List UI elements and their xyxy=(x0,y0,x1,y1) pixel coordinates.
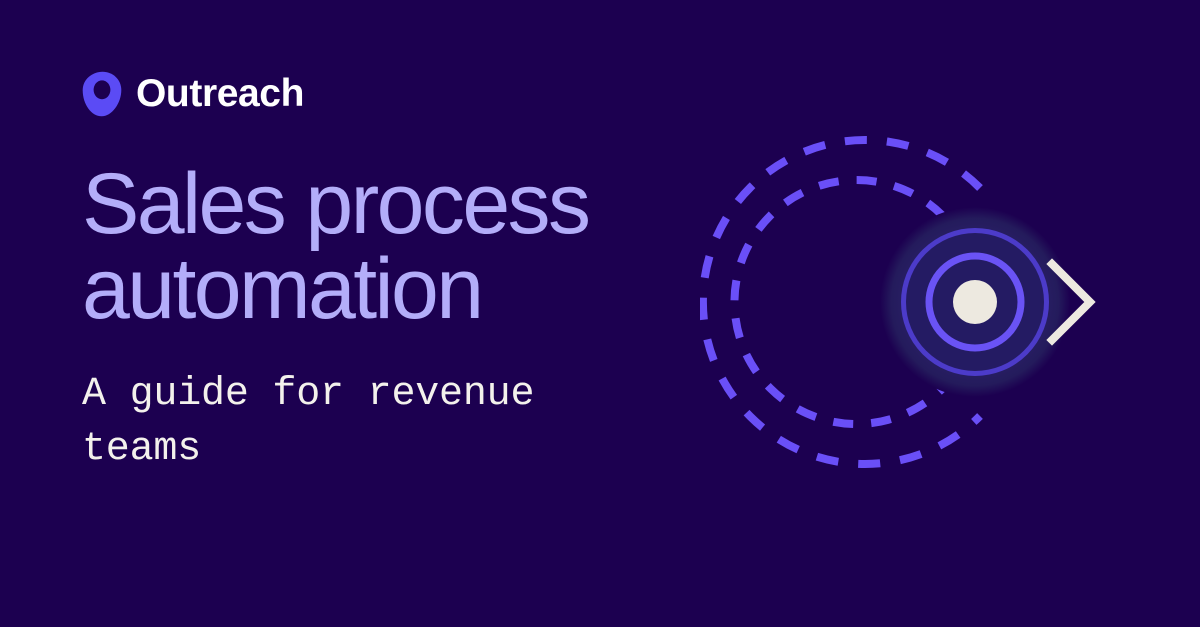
brand-logo[interactable]: Outreach xyxy=(82,68,304,120)
cover-canvas: Outreach Sales process automation A guid… xyxy=(0,0,1200,627)
page-subtitle: A guide for revenue teams xyxy=(82,368,742,477)
page-title: Sales process automation xyxy=(82,162,742,332)
copy-block: Sales process automation A guide for rev… xyxy=(82,162,742,477)
target-arrow-svg xyxy=(700,120,1160,500)
center-dot-icon xyxy=(953,280,997,324)
target-arrow-illustration xyxy=(700,120,1160,500)
outreach-shield-logo-icon xyxy=(82,71,122,117)
brand-wordmark: Outreach xyxy=(136,74,304,115)
